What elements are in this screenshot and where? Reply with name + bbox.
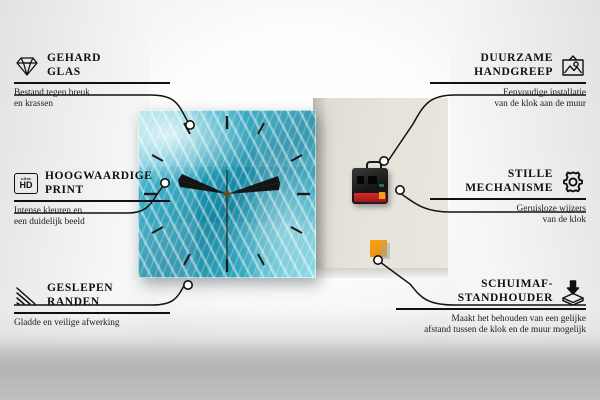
feature-title-line2: GLAS	[47, 66, 101, 80]
feature-title-line1: GESLEPEN	[47, 282, 113, 296]
feature-geslepen-randen: GESLEPEN RANDEN Gladde en veilige afwerk…	[14, 282, 170, 329]
feature-rule	[14, 312, 170, 314]
feature-sub-line2: afstand tussen de klok en de muur mogeli…	[396, 325, 586, 337]
diamond-icon	[14, 55, 40, 77]
feature-rule	[14, 82, 170, 84]
feature-title-line1: GEHARD	[47, 52, 101, 66]
feature-sub-line2: van de klok	[430, 215, 586, 227]
ultra-hd-icon-main: HD	[20, 181, 33, 190]
feature-title-line1: HOOGWAARDIGE	[45, 170, 153, 184]
mechanism-detail-left	[357, 176, 364, 184]
feature-sub-line1: Geruisloze wijzers	[430, 204, 586, 216]
product-photo	[138, 98, 448, 280]
feature-rule	[396, 308, 586, 310]
mechanism-indicator	[379, 184, 384, 187]
wall-base-edge	[313, 268, 448, 278]
feature-rule	[430, 198, 586, 200]
feature-gehard-glas: GEHARD GLAS Bestand tegen breuk en krass…	[14, 52, 170, 111]
feature-sub-line2: van de klok aan de muur	[430, 99, 586, 111]
feature-title-line1: DUURZAME	[474, 52, 553, 66]
feature-sub-line2: een duidelijk beeld	[14, 217, 170, 229]
gear-icon	[560, 170, 586, 194]
feature-duurzame-handgreep: DUURZAME HANDGREEP Eenvoudige installati…	[430, 52, 586, 111]
mechanism-detail-right	[368, 176, 377, 184]
picture-frame-icon	[560, 54, 586, 78]
feature-title-line2: PRINT	[45, 184, 153, 198]
feature-sub-line1: Intense kleuren en	[14, 206, 170, 218]
feature-rule	[430, 82, 586, 84]
foam-spacer-shadow	[381, 243, 390, 259]
feature-stille-mechanisme: STILLE MECHANISME Geruisloze wijzers van…	[430, 168, 586, 227]
feature-sub-line1: Eenvoudige installatie	[430, 88, 586, 100]
feature-title-line2: STANDHOUDER	[458, 292, 553, 306]
feature-rule	[14, 200, 170, 202]
feature-title-line1: STILLE	[465, 168, 553, 182]
foam-spacer-icon	[560, 279, 586, 305]
feature-title-line1: SCHUIMAF-	[458, 278, 553, 292]
feature-title-line2: HANDGREEP	[474, 66, 553, 80]
feature-sub-line1: Bestand tegen breuk	[14, 88, 170, 100]
product-feature-infographic: GEHARD GLAS Bestand tegen breuk en krass…	[0, 0, 600, 400]
feature-sub-line2: en krassen	[14, 99, 170, 111]
feature-sub-line1: Gladde en veilige afwerking	[14, 318, 170, 330]
connector-dot-geslepen-randen	[184, 281, 192, 289]
feature-schuimafstandhouder: SCHUIMAF- STANDHOUDER Maakt het behouden…	[396, 278, 586, 337]
feature-title-line2: MECHANISME	[465, 182, 553, 196]
beveled-edges-icon	[14, 285, 40, 307]
battery-terminal	[379, 192, 385, 199]
background-floor-shadow	[0, 342, 600, 400]
feature-hoogwaardige-print: ultra HD HOOGWAARDIGE PRINT Intense kleu…	[14, 170, 170, 229]
feature-title-line2: RANDEN	[47, 296, 113, 310]
feature-sub-line1: Maakt het behouden van een gelijke	[396, 314, 586, 326]
ultra-hd-icon: ultra HD	[14, 173, 38, 194]
